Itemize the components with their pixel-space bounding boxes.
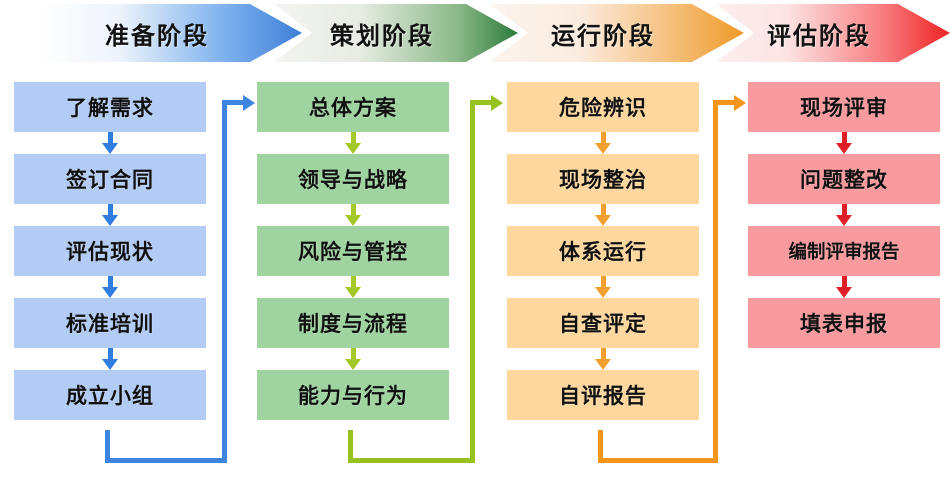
step-label: 评估现状 [66, 236, 154, 266]
connector-arrowhead-icon [243, 95, 255, 111]
phase-column-preparation: 了解需求 签订合同 评估现状 标准培训 成立小组 [14, 82, 206, 420]
phase-header-planning[interactable]: 策划阶段 [274, 4, 518, 62]
flow-arrow-down-icon [507, 348, 699, 370]
step-label: 现场整治 [559, 164, 647, 194]
phase-header-band: 准备阶段 策划阶段 运行阶段 评估阶段 [0, 4, 950, 62]
step-label: 编制评审报告 [788, 238, 899, 264]
connector-segment-up [222, 100, 227, 463]
step-box[interactable]: 领导与战略 [257, 154, 449, 204]
flow-arrow-down-icon [14, 204, 206, 226]
connector-segment-up [713, 100, 718, 463]
flow-arrow-down-icon [507, 276, 699, 298]
step-label: 能力与行为 [298, 380, 408, 410]
step-box[interactable]: 风险与管控 [257, 226, 449, 276]
step-label: 总体方案 [309, 92, 397, 122]
flow-arrow-down-icon [14, 348, 206, 370]
flow-arrow-down-icon [257, 348, 449, 370]
phase-header-evaluation[interactable]: 评估阶段 [716, 4, 950, 62]
step-label: 体系运行 [559, 236, 647, 266]
connector-segment-into-box [222, 100, 244, 105]
flow-arrow-down-icon [507, 132, 699, 154]
step-label: 领导与战略 [298, 164, 408, 194]
step-label: 危险辨识 [559, 92, 647, 122]
connector-arrowhead-icon [491, 95, 503, 111]
flow-arrow-down-icon [748, 276, 940, 298]
step-box[interactable]: 危险辨识 [507, 82, 699, 132]
step-label: 填表申报 [800, 308, 888, 338]
step-box[interactable]: 标准培训 [14, 298, 206, 348]
phase-header-label: 准备阶段 [105, 16, 209, 51]
step-box[interactable]: 自查评定 [507, 298, 699, 348]
phase-header-label: 策划阶段 [330, 16, 434, 51]
connector-segment-into-box [713, 100, 735, 105]
step-label: 标准培训 [66, 308, 154, 338]
step-box[interactable]: 制度与流程 [257, 298, 449, 348]
phase-column-operation: 危险辨识 现场整治 体系运行 自查评定 自评报告 [507, 82, 699, 420]
step-label: 成立小组 [66, 380, 154, 410]
flow-arrow-down-icon [257, 276, 449, 298]
step-box[interactable]: 体系运行 [507, 226, 699, 276]
step-label: 问题整改 [800, 164, 888, 194]
flow-arrow-down-icon [14, 276, 206, 298]
phase-column-evaluation: 现场评审 问题整改 编制评审报告 填表申报 [748, 82, 940, 348]
step-box[interactable]: 评估现状 [14, 226, 206, 276]
step-box[interactable]: 能力与行为 [257, 370, 449, 420]
connector-segment-right [105, 458, 227, 463]
step-label: 制度与流程 [298, 308, 408, 338]
phase-column-planning: 总体方案 领导与战略 风险与管控 制度与流程 能力与行为 [257, 82, 449, 420]
step-label: 了解需求 [66, 92, 154, 122]
step-label: 风险与管控 [298, 236, 408, 266]
phase-header-label: 运行阶段 [551, 16, 655, 51]
flow-arrow-down-icon [748, 204, 940, 226]
step-box[interactable]: 总体方案 [257, 82, 449, 132]
phase-header-label: 评估阶段 [767, 16, 871, 51]
step-label: 现场评审 [800, 92, 888, 122]
step-box[interactable]: 签订合同 [14, 154, 206, 204]
connector-arrowhead-icon [734, 95, 746, 111]
flowchart-diagram: 准备阶段 策划阶段 运行阶段 评估阶段 了解需求 签订合同 评估现状 标准培训 [0, 0, 950, 482]
step-box[interactable]: 自评报告 [507, 370, 699, 420]
step-box[interactable]: 成立小组 [14, 370, 206, 420]
step-label: 签订合同 [66, 164, 154, 194]
connector-segment-into-box [470, 100, 492, 105]
step-label: 自查评定 [559, 308, 647, 338]
connector-segment-right [348, 458, 475, 463]
step-box[interactable]: 填表申报 [748, 298, 940, 348]
step-box[interactable]: 问题整改 [748, 154, 940, 204]
connector-segment-up [470, 100, 475, 463]
phase-header-operation[interactable]: 运行阶段 [490, 4, 744, 62]
flow-arrow-down-icon [14, 132, 206, 154]
connector-segment-right [598, 458, 718, 463]
step-label: 自评报告 [559, 380, 647, 410]
step-box[interactable]: 编制评审报告 [748, 226, 940, 276]
flow-arrow-down-icon [257, 204, 449, 226]
flow-arrow-down-icon [257, 132, 449, 154]
flow-arrow-down-icon [748, 132, 940, 154]
phase-header-preparation[interactable]: 准备阶段 [40, 4, 302, 62]
step-box[interactable]: 了解需求 [14, 82, 206, 132]
step-box[interactable]: 现场整治 [507, 154, 699, 204]
step-box[interactable]: 现场评审 [748, 82, 940, 132]
flow-arrow-down-icon [507, 204, 699, 226]
